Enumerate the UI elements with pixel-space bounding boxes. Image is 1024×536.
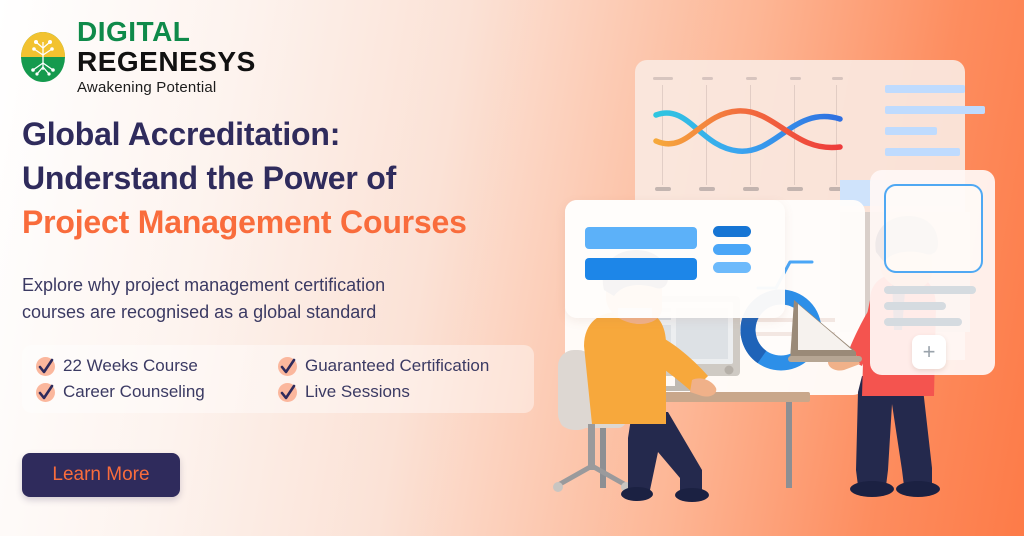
logo-tagline: Awakening Potential [77,80,256,95]
feature-label: 22 Weeks Course [63,356,198,376]
feature-label: Guaranteed Certification [305,356,489,376]
brand-logo[interactable]: DIGITAL REGENESYS Awakening Potential [18,18,256,95]
subtitle-line-2: courses are recognised as a global stand… [22,299,522,326]
check-icon [278,383,297,402]
image-placeholder-box [884,184,983,273]
logo-line-2: REGENESYS [77,48,256,76]
feature-item-1: 22 Weeks Course [36,356,278,376]
page-title: Global Accreditation: Understand the Pow… [22,112,582,244]
headline-line-2: Understand the Power of [22,156,582,200]
card-bar-small [713,226,751,237]
headline-line-3: Project Management Courses [22,200,582,244]
illustration: + [540,0,1024,536]
tree-circuit-emblem-icon [18,30,68,84]
card-bar [585,258,697,280]
feature-label: Live Sessions [305,382,410,402]
feature-list: 22 Weeks Course Guaranteed Certification… [22,345,534,413]
check-icon [278,357,297,376]
logo-line-1: DIGITAL [77,18,256,46]
check-icon [36,383,55,402]
headline-line-1: Global Accreditation: [22,112,582,156]
feature-item-3: Career Counseling [36,382,278,402]
card-text-line [884,318,962,326]
card-bar-small [713,244,751,255]
subtitle: Explore why project management certifica… [22,272,522,326]
card-text-line [884,302,946,310]
feature-label: Career Counseling [63,382,205,402]
card-bar [585,227,697,249]
dashboard-card-right: + [870,170,995,375]
marketing-banner: + DIGITAL REGENESYS Awakening Potential [0,0,1024,536]
dashboard-card-left [565,200,785,318]
feature-item-4: Live Sessions [278,382,520,402]
add-button[interactable]: + [912,335,946,369]
card-text-line [884,286,976,294]
card-bar-small [713,262,751,273]
feature-item-2: Guaranteed Certification [278,356,520,376]
learn-more-button[interactable]: Learn More [22,453,180,497]
check-icon [36,357,55,376]
subtitle-line-1: Explore why project management certifica… [22,272,522,299]
